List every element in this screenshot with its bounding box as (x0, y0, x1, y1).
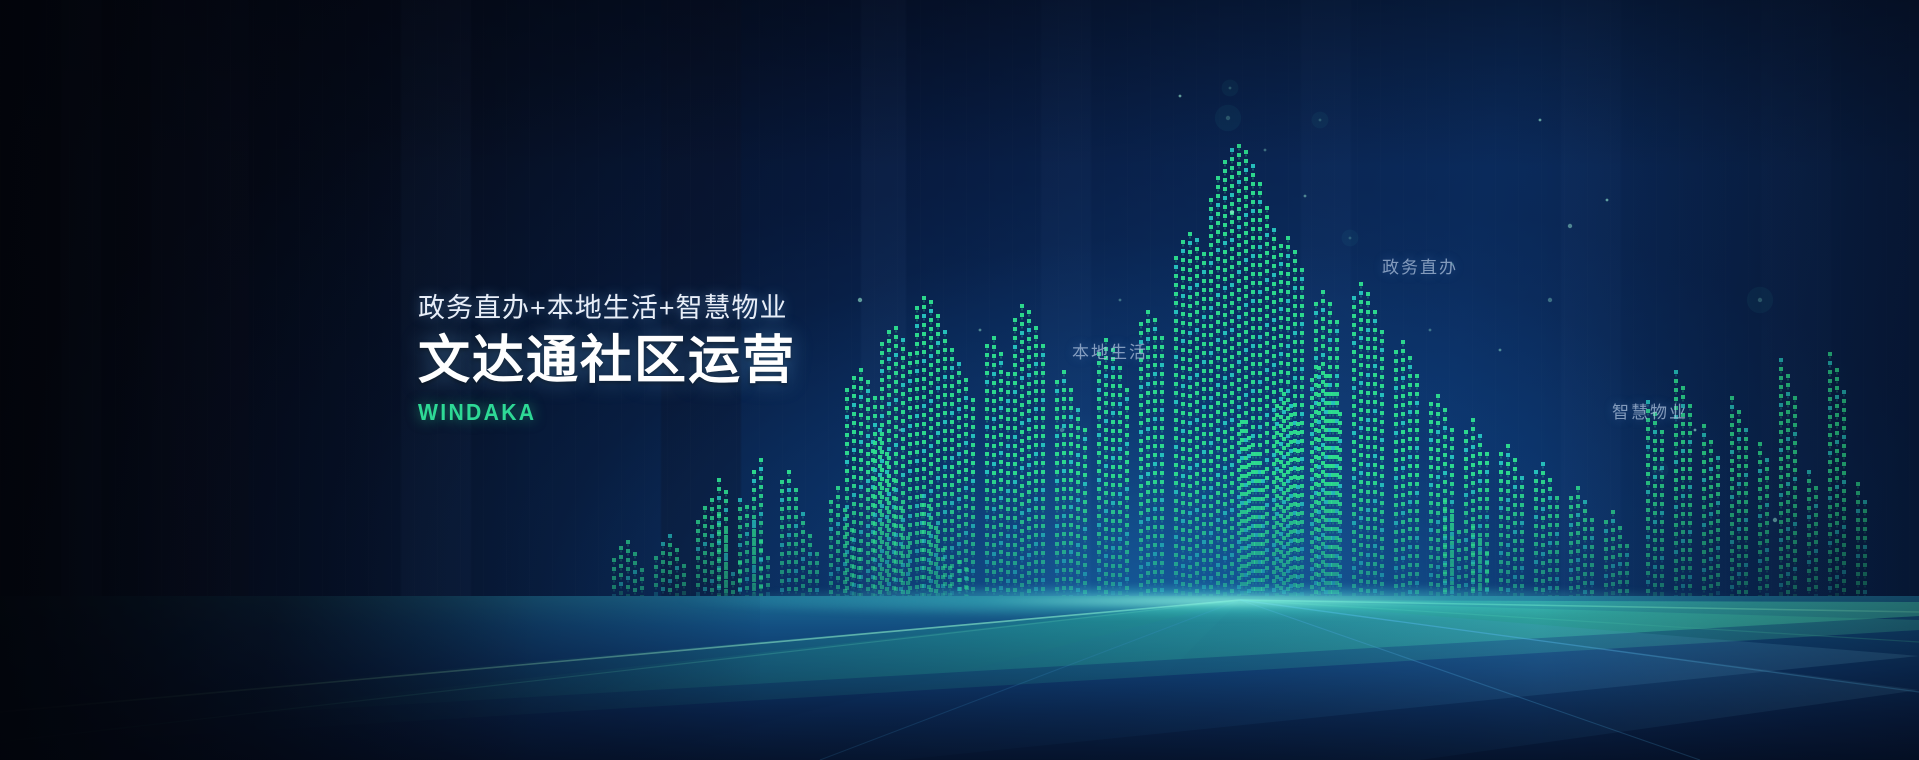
brand-wordmark: WINDAKA (418, 399, 766, 426)
tag-government-affairs: 政务直办 (1382, 253, 1458, 278)
headline-block: 政务直办+本地生活+智慧物业 文达通社区运营 WINDAKA (418, 292, 796, 426)
ground-left-shadow (0, 596, 760, 760)
banner-title: 文达通社区运营 (418, 333, 796, 390)
tag-local-life: 本地生活 (1072, 338, 1148, 363)
banner-subtitle: 政务直办+本地生活+智慧物业 (418, 292, 796, 326)
tag-smart-property: 智慧物业 (1612, 398, 1688, 423)
hero-banner: 政务直办+本地生活+智慧物业 文达通社区运营 WINDAKA 政务直办 本地生活… (0, 0, 1919, 760)
